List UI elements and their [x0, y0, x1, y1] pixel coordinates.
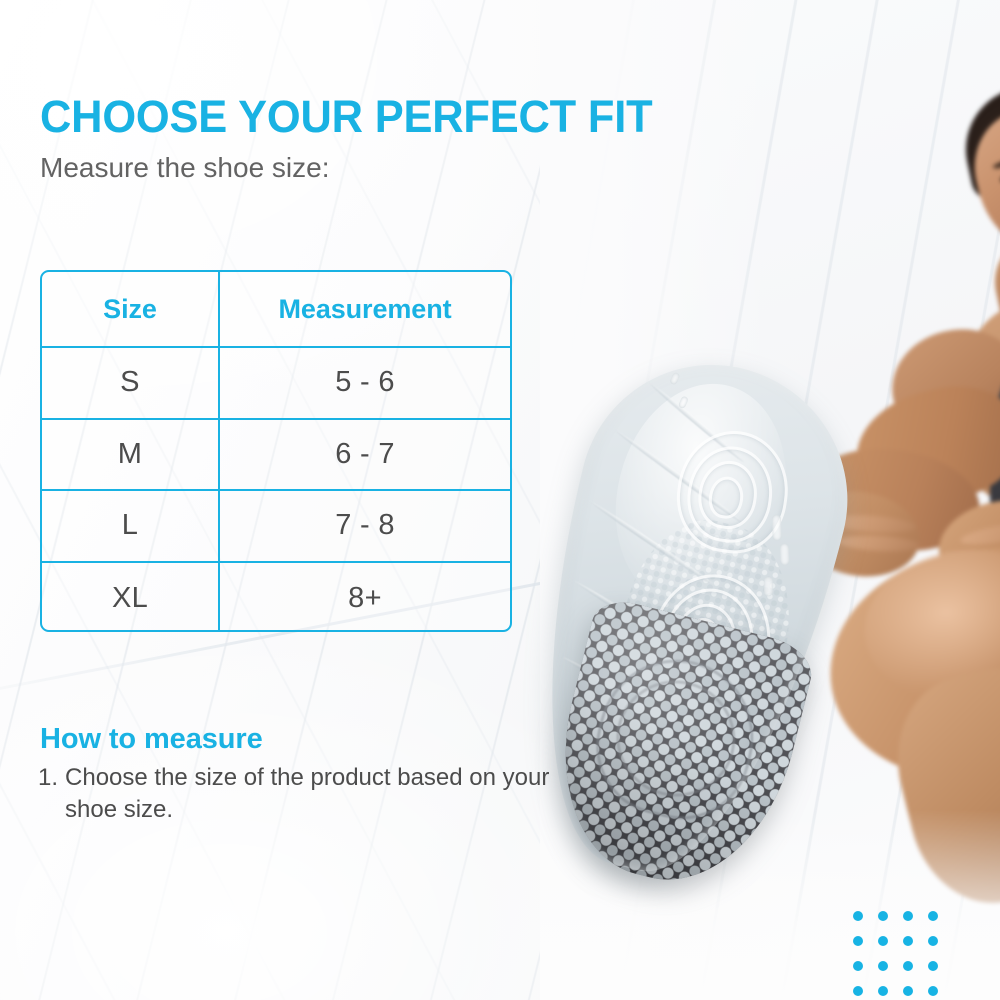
how-to-measure-heading: How to measure — [40, 722, 263, 756]
step-text: Choose the size of the product based on … — [65, 762, 558, 826]
insole-vent-slot — [772, 515, 782, 541]
column-header-size: Size — [103, 294, 157, 325]
table-cell-size: L — [42, 491, 220, 561]
table-row: L 7 - 8 — [42, 491, 510, 563]
decorative-dot — [903, 986, 913, 996]
table-header-cell-measurement: Measurement — [220, 272, 510, 346]
decorative-dot — [928, 961, 938, 971]
table-cell-size: S — [42, 348, 220, 418]
table-header-cell-size: Size — [42, 272, 220, 346]
table-cell-size: XL — [42, 563, 220, 633]
table-cell-measurement: 7 - 8 — [220, 491, 510, 561]
list-item: 1. Choose the size of the product based … — [38, 762, 558, 826]
insole-vent-slot — [780, 543, 790, 565]
decorative-dot — [853, 936, 863, 946]
page-title: CHOOSE YOUR PERFECT FIT — [40, 93, 652, 141]
how-to-measure-steps: 1. Choose the size of the product based … — [38, 762, 558, 826]
insole-vent-slot — [669, 372, 680, 386]
decorative-dot — [928, 936, 938, 946]
decorative-dot — [903, 911, 913, 921]
decorative-dot — [853, 911, 863, 921]
size-value: XL — [112, 582, 148, 615]
step-number: 1. — [38, 762, 65, 826]
decorative-dot — [903, 936, 913, 946]
size-value: S — [120, 366, 140, 399]
table-row: M 6 - 7 — [42, 420, 510, 492]
table-row: XL 8+ — [42, 563, 510, 633]
table-row: S 5 - 6 — [42, 348, 510, 420]
table-header-row: Size Measurement — [42, 272, 510, 348]
measurement-value: 8+ — [348, 582, 382, 615]
size-chart-table: Size Measurement S 5 - 6 M 6 - 7 L — [40, 270, 512, 632]
measurement-value: 5 - 6 — [335, 366, 395, 399]
decorative-dot — [878, 961, 888, 971]
decorative-dot — [928, 986, 938, 996]
column-header-measurement: Measurement — [279, 294, 452, 325]
decorative-dot — [928, 911, 938, 921]
decorative-dot — [853, 986, 863, 996]
infographic-page: CHOOSE YOUR PERFECT FIT Measure the shoe… — [0, 0, 1000, 1000]
decorative-dot — [878, 936, 888, 946]
measurement-value: 7 - 8 — [335, 509, 395, 542]
table-cell-measurement: 8+ — [220, 563, 510, 633]
size-value: M — [118, 438, 142, 471]
page-subtitle: Measure the shoe size: — [40, 151, 330, 185]
size-value: L — [122, 509, 138, 542]
insole-vent-slot — [764, 576, 773, 596]
table-cell-measurement: 6 - 7 — [220, 420, 510, 490]
table-cell-size: M — [42, 420, 220, 490]
table-cell-measurement: 5 - 6 — [220, 348, 510, 418]
measurement-value: 6 - 7 — [335, 438, 395, 471]
decorative-dot — [878, 911, 888, 921]
dot-grid-decoration — [853, 911, 953, 1000]
decorative-dot — [903, 961, 913, 971]
decorative-dot — [878, 986, 888, 996]
decorative-dot — [853, 961, 863, 971]
